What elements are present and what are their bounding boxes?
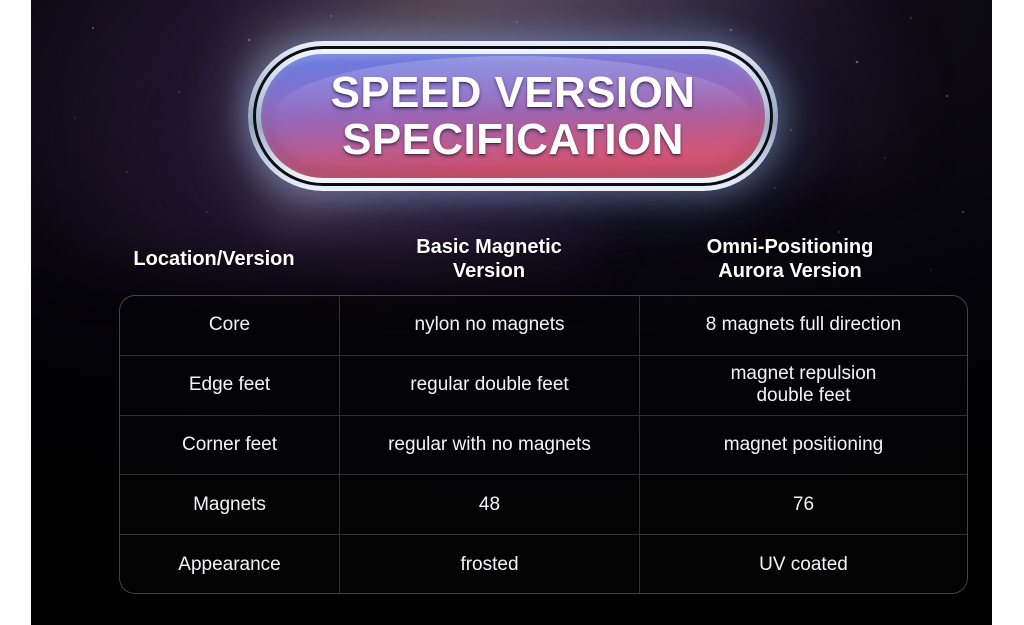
table-row: Appearance frosted UV coated <box>120 535 967 594</box>
table-cell-omni: 76 <box>640 475 967 534</box>
table-row: Magnets 48 76 <box>120 475 967 535</box>
specification-table: Core nylon no magnets 8 magnets full dir… <box>119 295 968 594</box>
table-row: Core nylon no magnets 8 magnets full dir… <box>120 296 967 356</box>
table-cell-label: Edge feet <box>120 356 340 415</box>
table-cell-basic: regular with no magnets <box>340 416 640 475</box>
table-cell-label: Corner feet <box>120 416 340 475</box>
table-cell-basic: regular double feet <box>340 356 640 415</box>
table-cell-omni: 8 magnets full direction <box>640 296 967 355</box>
table-column-headers: Location/Version Basic Magnetic Version … <box>89 228 941 290</box>
slide-canvas: SPEED VERSION SPECIFICATION Location/Ver… <box>31 0 992 625</box>
table-cell-omni: UV coated <box>640 535 967 594</box>
table-cell-basic: nylon no magnets <box>340 296 640 355</box>
table-cell-basic: frosted <box>340 535 640 594</box>
table-cell-basic: 48 <box>340 475 640 534</box>
table-cell-label: Appearance <box>120 535 340 594</box>
table-cell-label: Core <box>120 296 340 355</box>
table-cell-omni: magnet positioning <box>640 416 967 475</box>
page-title: SPEED VERSION SPECIFICATION <box>317 69 710 163</box>
table-row: Edge feet regular double feet magnet rep… <box>120 356 967 416</box>
table-cell-omni: magnet repulsion double feet <box>640 356 967 415</box>
column-header-location: Location/Version <box>89 228 339 290</box>
badge-face: SPEED VERSION SPECIFICATION <box>261 54 765 178</box>
column-header-basic-magnetic: Basic Magnetic Version <box>339 228 639 290</box>
table-row: Corner feet regular with no magnets magn… <box>120 416 967 476</box>
column-header-omni-aurora: Omni-Positioning Aurora Version <box>639 228 941 290</box>
table-cell-label: Magnets <box>120 475 340 534</box>
title-badge: SPEED VERSION SPECIFICATION <box>248 41 778 191</box>
